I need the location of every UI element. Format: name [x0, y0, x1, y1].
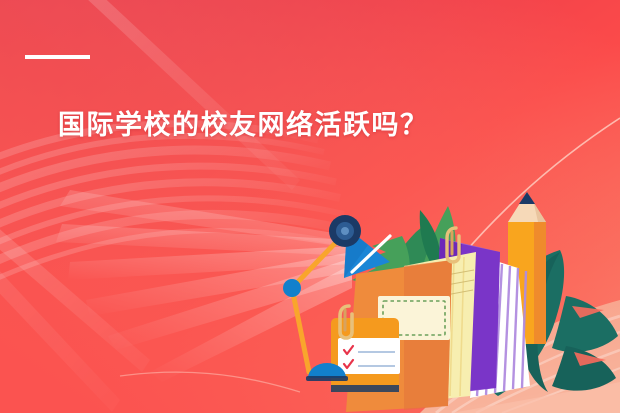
lamp-joint-node [283, 279, 301, 297]
page-title: 国际学校的校友网络活跃吗？ [58, 110, 429, 142]
promo-banner: 国际学校的校友网络活跃吗？ [0, 0, 620, 413]
illustration-layer [0, 0, 620, 413]
accent-rule [25, 55, 90, 59]
